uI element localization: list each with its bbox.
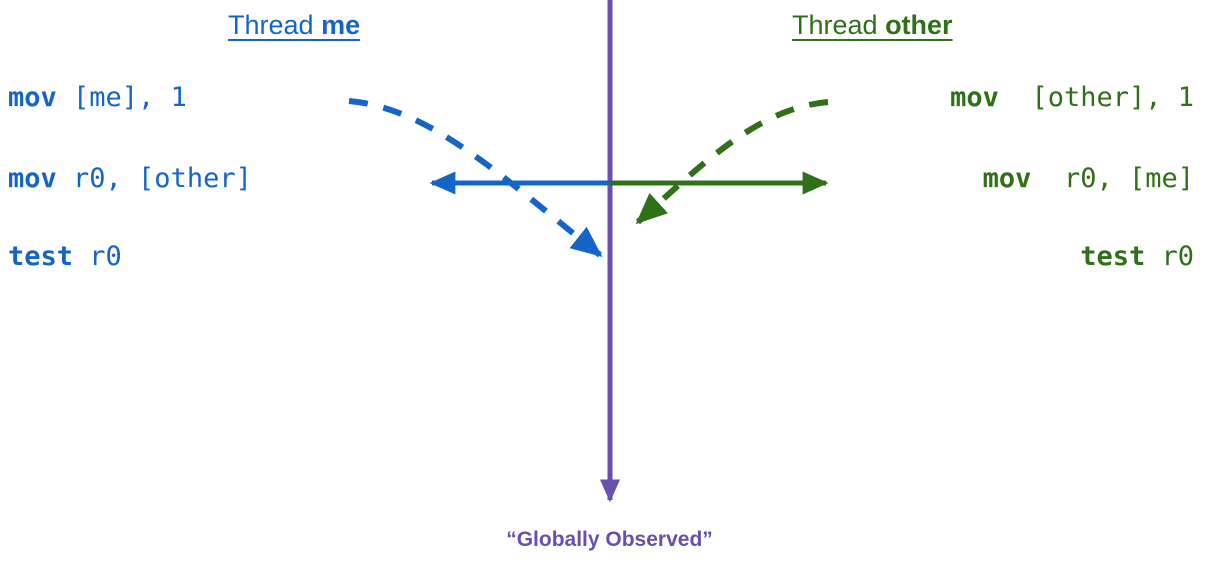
thread-me-instruction-3: test r0 xyxy=(8,241,122,272)
instruction-operands: r0 xyxy=(73,241,122,272)
thread-me-header-name: me xyxy=(321,10,360,40)
instruction-operands: [other], 1 xyxy=(1015,82,1194,113)
instruction-mnemonic: mov xyxy=(8,82,73,113)
thread-me-header-prefix: Thread xyxy=(228,10,321,40)
thread-other-instruction-1: mov [other], 1 xyxy=(950,82,1194,113)
instruction-operands: r0, [other] xyxy=(73,163,252,194)
instruction-operands: r0, [me] xyxy=(1048,163,1194,194)
thread-me-instruction-2: mov r0, [other] xyxy=(8,163,252,194)
thread-other-header-prefix: Thread xyxy=(792,10,885,40)
instruction-mnemonic: mov xyxy=(983,163,1048,194)
green-dashed-store-arrow xyxy=(638,102,828,222)
thread-me-header: Thread me xyxy=(228,10,360,41)
thread-other-instruction-3: test r0 xyxy=(1080,241,1194,272)
instruction-mnemonic: mov xyxy=(950,82,1015,113)
thread-other-header: Thread other xyxy=(792,10,953,41)
diagram-canvas: Thread me Thread other mov [me], 1 mov r… xyxy=(0,0,1219,576)
thread-other-instruction-2: mov r0, [me] xyxy=(983,163,1194,194)
instruction-mnemonic: test xyxy=(8,241,73,272)
instruction-operands: [me], 1 xyxy=(73,82,187,113)
thread-me-instruction-1: mov [me], 1 xyxy=(8,82,187,113)
instruction-mnemonic: test xyxy=(1080,241,1145,272)
instruction-operands: r0 xyxy=(1145,241,1194,272)
thread-other-header-name: other xyxy=(885,10,953,40)
globally-observed-label: “Globally Observed” xyxy=(0,528,1219,552)
blue-dashed-store-arrow xyxy=(349,101,600,255)
instruction-mnemonic: mov xyxy=(8,163,73,194)
